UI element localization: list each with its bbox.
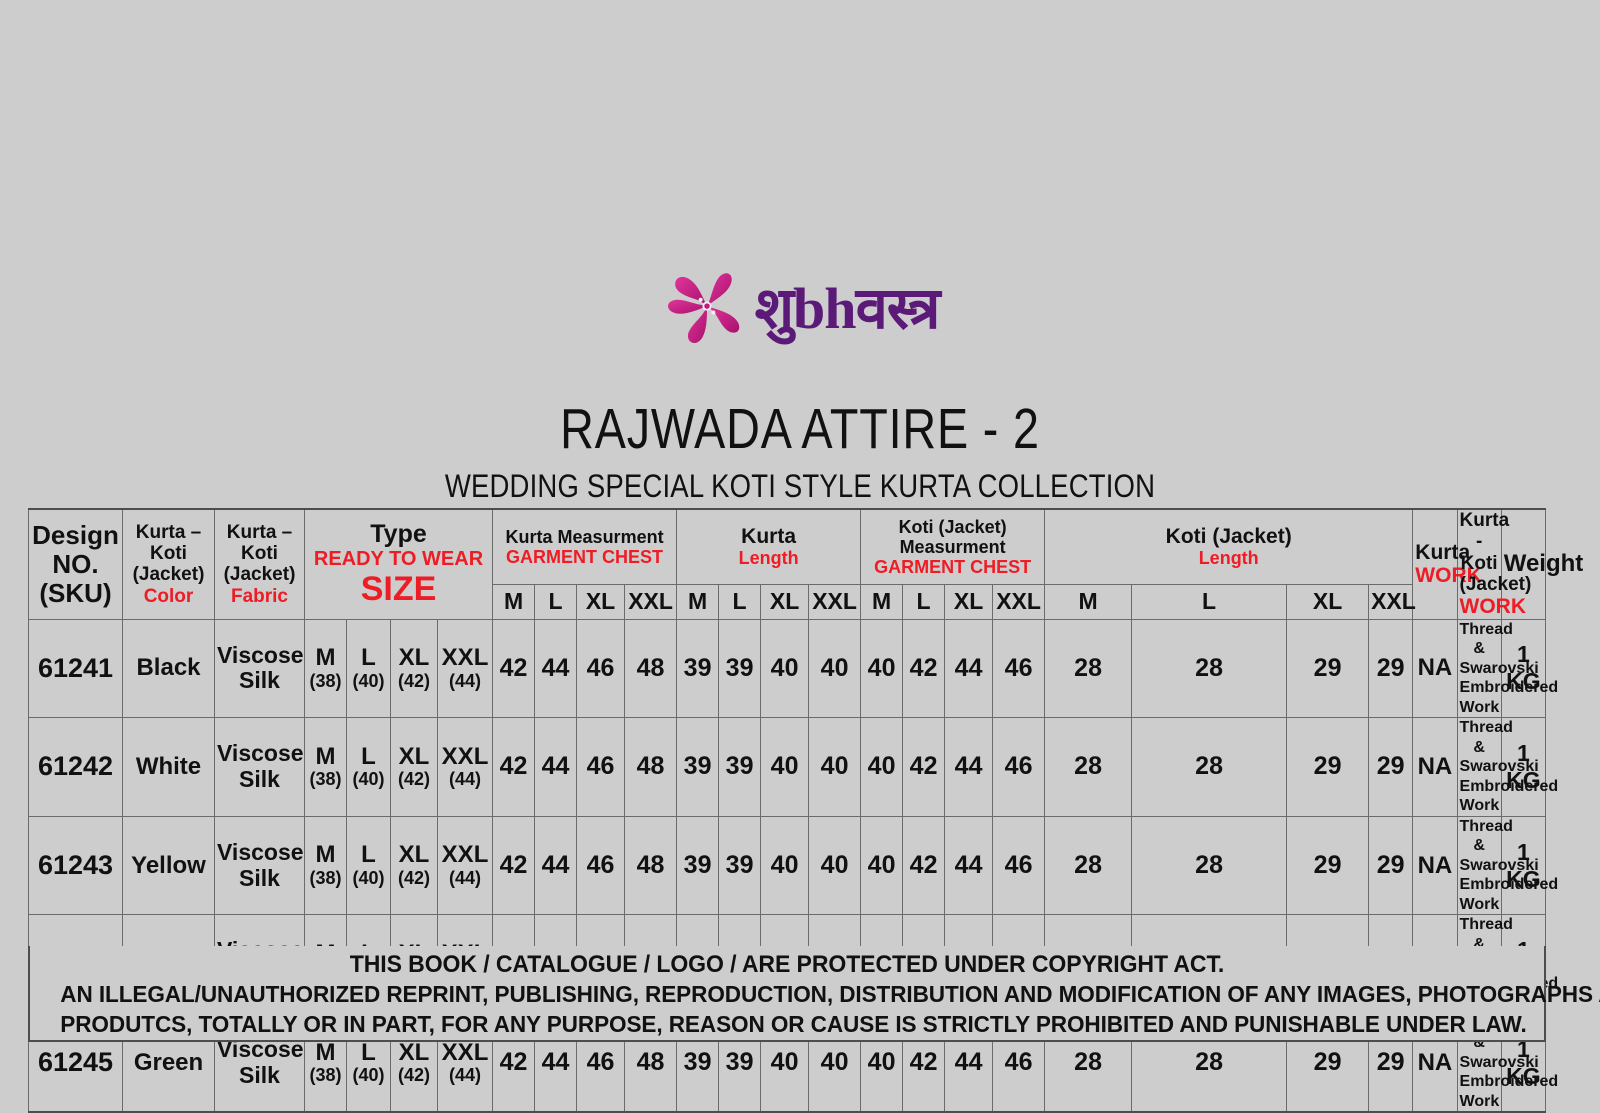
size-header-kurta-chest-xl: XL xyxy=(577,584,625,619)
table-row: 61242WhiteViscoseSilkM(38)L(40)XL(42)XXL… xyxy=(29,718,1546,817)
cell-koti-chest-xl: 44 xyxy=(945,619,993,718)
cell-kurta-length-xxl: 40 xyxy=(809,816,861,915)
brand-logo: शुbhवस्त्र xyxy=(0,262,1600,352)
cell-kurta-chest-m: 42 xyxy=(493,619,535,718)
copyright-line-1: THIS BOOK / CATALOGUE / LOGO / ARE PROTE… xyxy=(60,950,1513,980)
cell-size-xl: XL(42) xyxy=(391,816,438,915)
cell-kurta-koti-work: Thread & SwarovskiEmbroidered Work xyxy=(1457,816,1501,915)
header-fabric: Kurta – Koti (Jacket) Fabric xyxy=(215,509,305,619)
cell-koti-length-m: 28 xyxy=(1045,718,1132,817)
size-header-kurta-length-l: L xyxy=(719,584,761,619)
size-header-kurta-chest-l: L xyxy=(535,584,577,619)
cell-kurta-chest-xxl: 48 xyxy=(625,718,677,817)
table-row: 61241BlackViscoseSilkM(38)L(40)XL(42)XXL… xyxy=(29,619,1546,718)
cell-sku: 61243 xyxy=(29,816,123,915)
cell-kurta-length-l: 39 xyxy=(719,718,761,817)
cell-fabric: ViscoseSilk xyxy=(215,619,305,718)
pinwheel-swirl-icon xyxy=(661,268,753,346)
cell-fabric: ViscoseSilk xyxy=(215,816,305,915)
cell-koti-chest-l: 42 xyxy=(903,718,945,817)
cell-kurta-chest-xl: 46 xyxy=(577,718,625,817)
cell-size-xl: XL(42) xyxy=(391,718,438,817)
size-header-koti-chest-m: M xyxy=(861,584,903,619)
copyright-line-3: PRODUTCS, TOTALLY OR IN PART, FOR ANY PU… xyxy=(60,1010,1513,1040)
cell-size-xxl: XXL(44) xyxy=(438,718,493,817)
cell-kurta-chest-l: 44 xyxy=(535,816,577,915)
cell-kurta-work: NA xyxy=(1413,816,1457,915)
cell-kurta-chest-m: 42 xyxy=(493,816,535,915)
cell-kurta-chest-xxl: 48 xyxy=(625,619,677,718)
cell-fabric: ViscoseSilk xyxy=(215,718,305,817)
header-koti-chest: Koti (Jacket) Measurment GARMENT CHEST xyxy=(861,509,1045,584)
cell-kurta-length-xl: 40 xyxy=(761,619,809,718)
size-header-koti-length-xxl: XXL xyxy=(1369,584,1413,619)
cell-size-xxl: XXL(44) xyxy=(438,619,493,718)
header-color: Kurta – Koti (Jacket) Color xyxy=(123,509,215,619)
cell-koti-length-m: 28 xyxy=(1045,816,1132,915)
cell-kurta-chest-m: 42 xyxy=(493,718,535,817)
size-header-koti-chest-xl: XL xyxy=(945,584,993,619)
cell-sku: 61241 xyxy=(29,619,123,718)
copyright-line-2: AN ILLEGAL/UNAUTHORIZED REPRINT, PUBLISH… xyxy=(60,980,1513,1010)
cell-koti-length-xl: 29 xyxy=(1287,816,1369,915)
cell-size-xxl: XXL(44) xyxy=(438,816,493,915)
cell-koti-length-l: 28 xyxy=(1132,816,1287,915)
size-header-koti-length-xl: XL xyxy=(1287,584,1369,619)
cell-kurta-length-xxl: 40 xyxy=(809,718,861,817)
header-koti-length: Koti (Jacket) Length xyxy=(1045,509,1413,584)
cell-size-m: M(38) xyxy=(305,718,347,817)
cell-koti-length-xl: 29 xyxy=(1287,619,1369,718)
cell-koti-chest-xxl: 46 xyxy=(993,619,1045,718)
cell-size-l: L(40) xyxy=(347,619,391,718)
page-title: RAJWADA ATTIRE - 2 xyxy=(144,396,1456,462)
table-header-group-row: Design NO. (SKU) Kurta – Koti (Jacket) C… xyxy=(29,509,1546,584)
size-header-kurta-length-xl: XL xyxy=(761,584,809,619)
cell-kurta-length-l: 39 xyxy=(719,619,761,718)
size-header-kurta-length-xxl: XXL xyxy=(809,584,861,619)
cell-kurta-chest-l: 44 xyxy=(535,718,577,817)
cell-koti-length-xxl: 29 xyxy=(1369,718,1413,817)
cell-kurta-chest-xl: 46 xyxy=(577,619,625,718)
cell-koti-length-xxl: 29 xyxy=(1369,619,1413,718)
header-kurta-koti-work: Kurta - Koti (Jacket) WORK xyxy=(1457,509,1501,619)
cell-koti-chest-xl: 44 xyxy=(945,718,993,817)
cell-koti-length-xl: 29 xyxy=(1287,718,1369,817)
header-type-size: Type READY TO WEAR SIZE xyxy=(305,509,493,619)
header-kurta-chest: Kurta Measurment GARMENT CHEST xyxy=(493,509,677,584)
cell-koti-chest-m: 40 xyxy=(861,718,903,817)
cell-kurta-length-m: 39 xyxy=(677,718,719,817)
size-header-koti-length-l: L xyxy=(1132,584,1287,619)
cell-kurta-length-xxl: 40 xyxy=(809,619,861,718)
cell-kurta-length-m: 39 xyxy=(677,619,719,718)
cell-kurta-length-xl: 40 xyxy=(761,816,809,915)
table-row: 61243YellowViscoseSilkM(38)L(40)XL(42)XX… xyxy=(29,816,1546,915)
cell-koti-length-xxl: 29 xyxy=(1369,816,1413,915)
cell-kurta-chest-xxl: 48 xyxy=(625,816,677,915)
cell-color: White xyxy=(123,718,215,817)
cell-kurta-length-l: 39 xyxy=(719,816,761,915)
size-header-kurta-length-m: M xyxy=(677,584,719,619)
cell-koti-chest-l: 42 xyxy=(903,816,945,915)
header-kurta-length: Kurta Length xyxy=(677,509,861,584)
cell-size-l: L(40) xyxy=(347,718,391,817)
cell-koti-chest-l: 42 xyxy=(903,619,945,718)
page-subtitle: WEDDING SPECIAL KOTI STYLE KURTA COLLECT… xyxy=(112,468,1488,505)
cell-kurta-chest-l: 44 xyxy=(535,619,577,718)
size-header-kurta-chest-xxl: XXL xyxy=(625,584,677,619)
header-kurta-work: Kurta WORK xyxy=(1413,509,1457,619)
cell-sku: 61242 xyxy=(29,718,123,817)
cell-koti-length-l: 28 xyxy=(1132,718,1287,817)
cell-kurta-length-xl: 40 xyxy=(761,718,809,817)
size-header-koti-chest-xxl: XXL xyxy=(993,584,1045,619)
cell-kurta-work: NA xyxy=(1413,718,1457,817)
size-header-koti-chest-l: L xyxy=(903,584,945,619)
cell-color: Black xyxy=(123,619,215,718)
size-header-kurta-chest-m: M xyxy=(493,584,535,619)
cell-koti-chest-m: 40 xyxy=(861,816,903,915)
cell-koti-chest-xxl: 46 xyxy=(993,718,1045,817)
size-header-koti-length-m: M xyxy=(1045,584,1132,619)
cell-size-m: M(38) xyxy=(305,816,347,915)
copyright-notice: THIS BOOK / CATALOGUE / LOGO / ARE PROTE… xyxy=(28,946,1546,1042)
header-design-no: Design NO. (SKU) xyxy=(29,509,123,619)
cell-koti-chest-xxl: 46 xyxy=(993,816,1045,915)
cell-kurta-koti-work: Thread & SwarovskiEmbroidered Work xyxy=(1457,619,1501,718)
cell-koti-length-l: 28 xyxy=(1132,619,1287,718)
cell-size-m: M(38) xyxy=(305,619,347,718)
cell-koti-chest-xl: 44 xyxy=(945,816,993,915)
cell-koti-length-m: 28 xyxy=(1045,619,1132,718)
cell-kurta-length-m: 39 xyxy=(677,816,719,915)
cell-kurta-chest-xl: 46 xyxy=(577,816,625,915)
cell-color: Yellow xyxy=(123,816,215,915)
cell-kurta-work: NA xyxy=(1413,619,1457,718)
cell-kurta-koti-work: Thread & SwarovskiEmbroidered Work xyxy=(1457,718,1501,817)
cell-koti-chest-m: 40 xyxy=(861,619,903,718)
brand-wordmark: शुbhवस्त्र xyxy=(755,280,940,338)
cell-size-xl: XL(42) xyxy=(391,619,438,718)
cell-size-l: L(40) xyxy=(347,816,391,915)
